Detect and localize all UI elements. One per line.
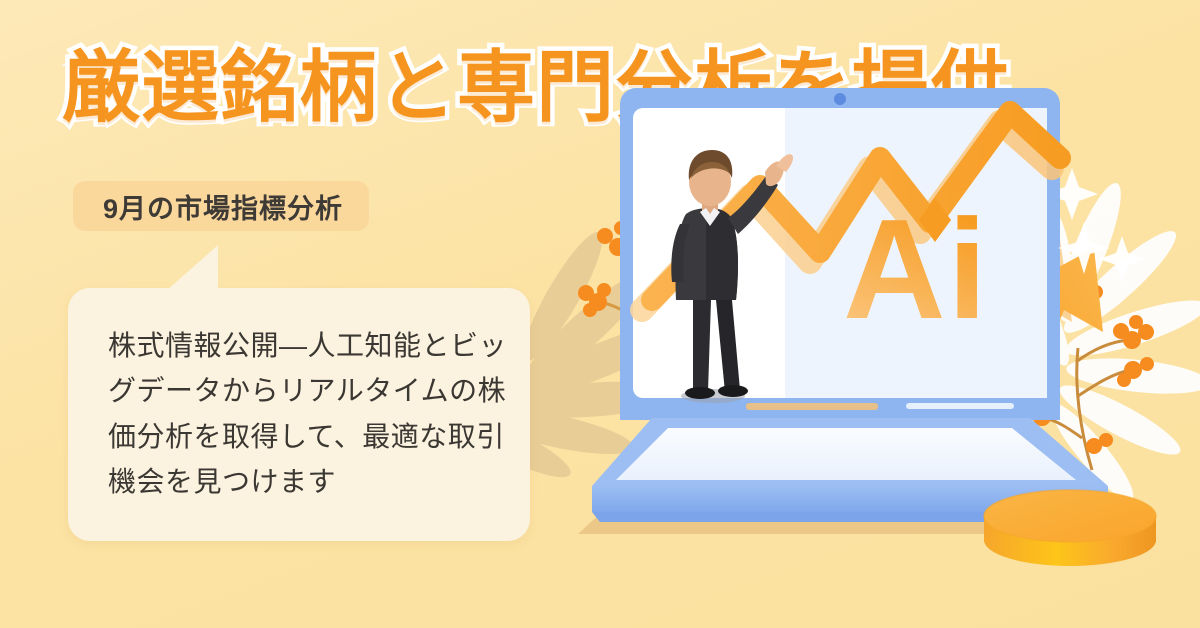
speech-bubble-text: 株式情報公開—人工知能とビッグデータからリアルタイムの株価分析を取得して、最適な…: [108, 323, 510, 504]
speech-bubble-tail: [166, 245, 218, 291]
hero-illustration: Ai: [560, 0, 1200, 628]
promo-banner: 厳選銘柄と専門分析を提供 9月の市場指標分析 株式情報公開—人工知能とビッグデー…: [0, 0, 1200, 628]
gold-coin: [984, 490, 1156, 566]
ai-wordmark: Ai: [843, 190, 989, 349]
left-content-column: 厳選銘柄と専門分析を提供 9月の市場指標分析 株式情報公開—人工知能とビッグデー…: [0, 0, 600, 628]
svg-text:Ai: Ai: [843, 190, 989, 349]
status-badge: 9月の市場指標分析: [73, 181, 369, 231]
laptop-hinge: [620, 403, 1060, 420]
